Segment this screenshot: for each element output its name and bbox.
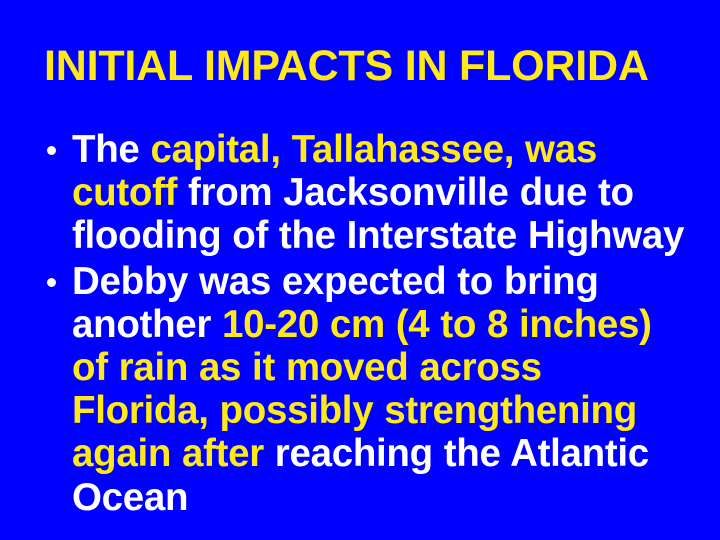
bullet-list: The capital, Tallahassee, was cutoff fro… [38,128,688,519]
list-item-text: Debby was expected to bring another 10-2… [72,260,652,519]
list-item: The capital, Tallahassee, was cutoff fro… [38,128,688,258]
text-run: The [72,128,150,171]
list-item-text: The capital, Tallahassee, was cutoff fro… [72,128,684,257]
presentation-slide: INITIAL IMPACTS IN FLORIDA The capital, … [0,0,720,540]
list-item: Debby was expected to bring another 10-2… [38,260,688,519]
bullet-dot-icon [47,278,56,287]
page-title: INITIAL IMPACTS IN FLORIDA [44,42,684,90]
bullet-dot-icon [47,146,56,155]
